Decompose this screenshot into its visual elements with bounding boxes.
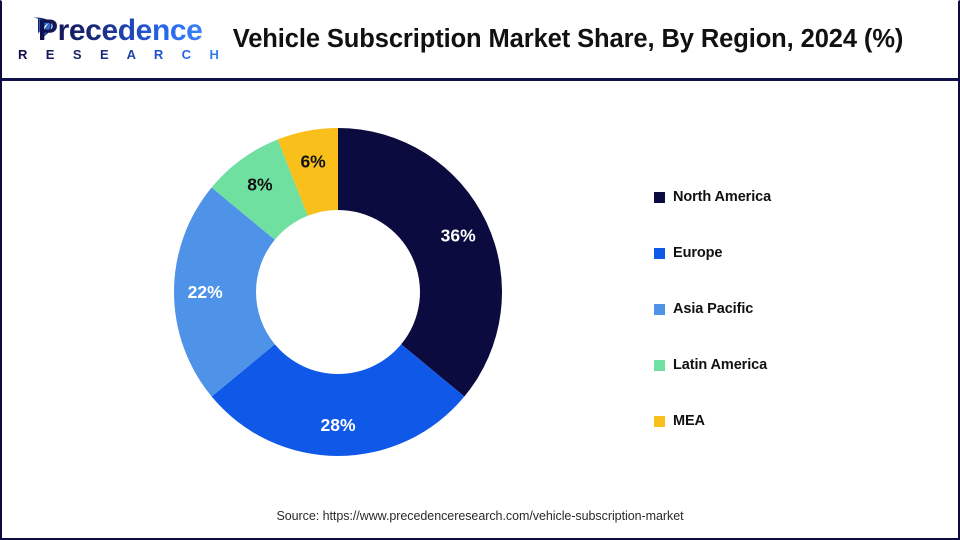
legend-swatch-icon	[654, 192, 665, 203]
chart-legend: North America Europe Asia Pacific Latin …	[654, 169, 914, 449]
chart-page: Precedence R E S E A R C H Vehicle Subsc…	[0, 0, 960, 540]
legend-item-europe[interactable]: Europe	[654, 225, 914, 281]
slice-value-label: 22%	[188, 282, 223, 302]
legend-item-mea[interactable]: MEA	[654, 393, 914, 449]
legend-swatch-icon	[654, 248, 665, 259]
page-header: Precedence R E S E A R C H Vehicle Subsc…	[2, 1, 958, 81]
legend-swatch-icon	[654, 360, 665, 371]
logo-subtitle: R E S E A R C H	[18, 47, 226, 63]
donut-slice-group	[174, 128, 502, 456]
donut-chart: 36%28%22%8%6%	[174, 128, 502, 456]
slice-value-label: 28%	[320, 415, 355, 435]
logo-wordmark: Precedence	[38, 14, 202, 48]
legend-label: Asia Pacific	[673, 301, 753, 317]
slice-value-label: 8%	[247, 175, 273, 195]
legend-label: North America	[673, 189, 771, 205]
legend-label: MEA	[673, 413, 705, 429]
page-title: Vehicle Subscription Market Share, By Re…	[198, 1, 938, 78]
legend-swatch-icon	[654, 416, 665, 427]
legend-label: Europe	[673, 245, 722, 261]
donut-slice-north-america[interactable]	[338, 128, 502, 397]
legend-item-north-america[interactable]: North America	[654, 169, 914, 225]
donut-chart-svg: 36%28%22%8%6%	[174, 128, 502, 456]
legend-item-latin-america[interactable]: Latin America	[654, 337, 914, 393]
legend-item-asia-pacific[interactable]: Asia Pacific	[654, 281, 914, 337]
source-note: Source: https://www.precedenceresearch.c…	[2, 509, 958, 523]
legend-label: Latin America	[673, 357, 767, 373]
slice-value-label: 6%	[300, 152, 326, 172]
legend-swatch-icon	[654, 304, 665, 315]
slice-value-label: 36%	[441, 225, 476, 245]
precedence-research-logo: Precedence R E S E A R C H	[16, 14, 176, 68]
